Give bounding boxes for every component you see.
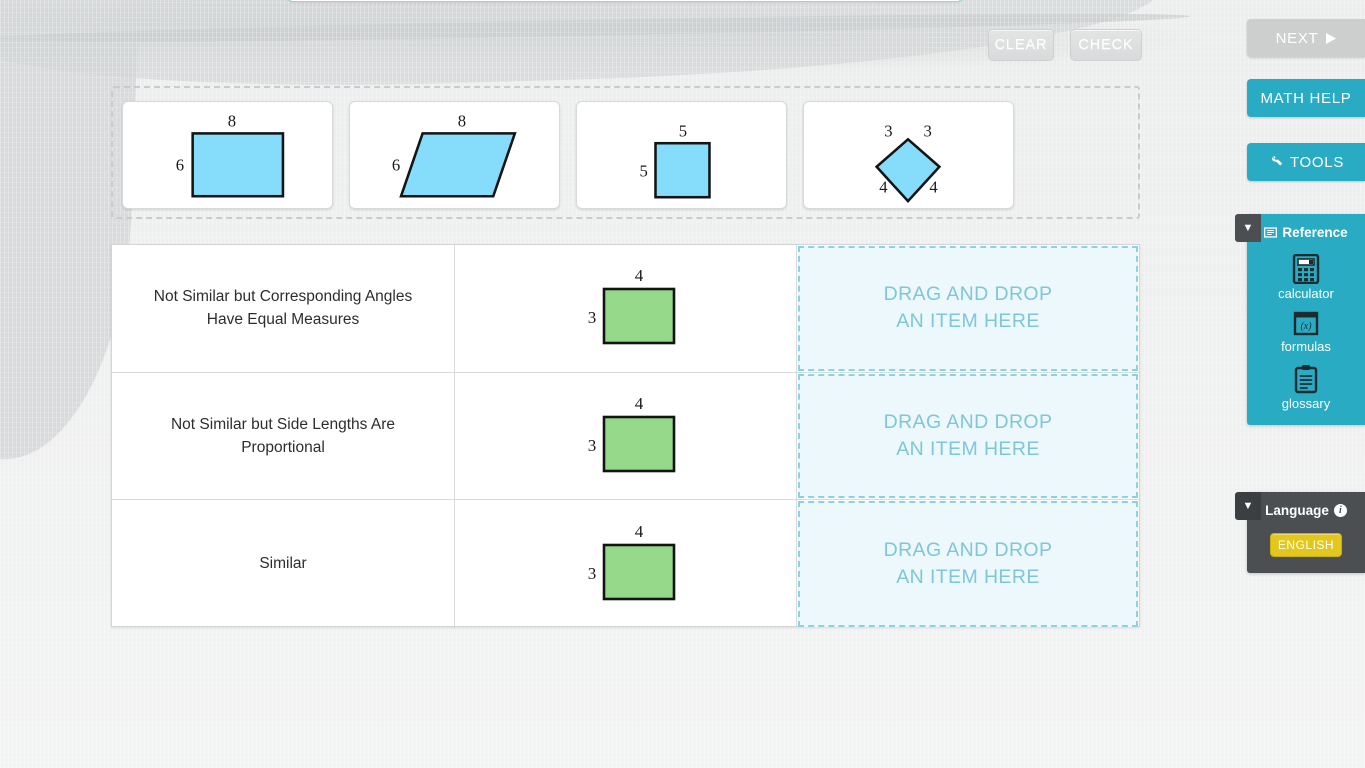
play-triangle-icon [1325, 33, 1336, 44]
shape-label-left: 3 [587, 308, 596, 327]
language-panel-header[interactable]: ▼ Language i [1247, 498, 1365, 522]
shape-label-left: 6 [176, 156, 184, 175]
check-button[interactable]: CHECK [1070, 29, 1142, 61]
reference-item-glossary[interactable]: glossary [1247, 364, 1365, 411]
row-reference-shape: 4 3 [455, 245, 797, 372]
right-rail: NEXT MATH HELP TOOLS ▼ Reference [1240, 0, 1365, 768]
table-row: Not Similar but Side Lengths Are Proport… [112, 373, 1139, 501]
table-row: Similar 4 3 DRAG AND DROP AN ITEM HERE [112, 500, 1139, 628]
square-figure: 5 5 [577, 102, 786, 208]
clipped-question-panel [287, 0, 963, 2]
reference-item-calculator[interactable]: calculator [1247, 254, 1365, 301]
math-help-button[interactable]: MATH HELP [1247, 79, 1365, 117]
shape-label-left: 5 [640, 162, 648, 181]
next-button[interactable]: NEXT [1247, 19, 1365, 57]
shape-label-top: 4 [634, 394, 643, 413]
reference-item-label: formulas [1281, 339, 1331, 354]
shape-label-top: 4 [634, 522, 643, 541]
language-panel: ▼ Language i ENGLISH [1247, 492, 1365, 573]
match-table: Not Similar but Corresponding Angles Hav… [111, 244, 1140, 627]
drop-zone-row-2[interactable]: DRAG AND DROP AN ITEM HERE [798, 374, 1138, 499]
drop-placeholder-line2: AN ITEM HERE [896, 310, 1039, 332]
clear-button[interactable]: CLEAR [988, 29, 1054, 61]
reference-item-label: glossary [1282, 396, 1330, 411]
triangle-down-icon[interactable]: ▼ [1235, 214, 1261, 242]
row-reference-shape: 4 3 [455, 373, 797, 500]
draggable-shape-rectangle-8-6[interactable]: 8 6 [122, 101, 333, 209]
shape-label-left: 6 [392, 156, 400, 175]
kite-figure: 3 3 4 4 [804, 102, 1013, 208]
tools-label: TOOLS [1290, 154, 1344, 171]
wrench-icon [1268, 155, 1283, 170]
row-category-label: Not Similar but Side Lengths Are Proport… [112, 373, 455, 500]
shape-bank: 8 6 8 6 5 5 3 3 4 [111, 86, 1140, 219]
shape-label-top: 4 [634, 266, 643, 285]
rectangle-figure: 8 6 [123, 102, 332, 208]
drop-placeholder-line1: DRAG AND DROP [884, 283, 1053, 305]
svg-text:(x): (x) [1300, 321, 1312, 332]
shape-label-left: 3 [587, 564, 596, 583]
shape-label-top-left: 3 [884, 121, 892, 140]
drop-zone-row-3[interactable]: DRAG AND DROP AN ITEM HERE [798, 501, 1138, 627]
reference-item-formulas[interactable]: (x) formulas [1247, 311, 1365, 354]
shape-label-top: 8 [458, 112, 466, 131]
tools-button[interactable]: TOOLS [1247, 143, 1365, 181]
rectangle-figure: 4 3 [546, 253, 706, 363]
row-category-label: Similar [112, 500, 455, 628]
language-english-button[interactable]: ENGLISH [1270, 533, 1342, 557]
question-stage: CLEAR CHECK 8 6 8 6 5 5 [0, 0, 1365, 768]
draggable-shape-square-5-5[interactable]: 5 5 [576, 101, 787, 209]
drop-placeholder-line1: DRAG AND DROP [884, 539, 1053, 561]
draggable-shape-parallelogram-8-6[interactable]: 8 6 [349, 101, 560, 209]
shape-label-top: 8 [228, 112, 236, 131]
row-category-label: Not Similar but Corresponding Angles Hav… [112, 245, 455, 372]
shape-label-bottom-left: 4 [879, 177, 888, 196]
formulas-icon: (x) [1292, 311, 1320, 337]
reference-item-label: calculator [1278, 286, 1334, 301]
next-button-label: NEXT [1276, 30, 1319, 47]
language-panel-title: Language [1265, 503, 1329, 518]
book-icon [1264, 227, 1277, 238]
calculator-icon [1292, 254, 1320, 284]
shape-label-left: 3 [587, 436, 596, 455]
math-help-label: MATH HELP [1260, 90, 1351, 107]
info-icon[interactable]: i [1334, 504, 1347, 517]
parallelogram-figure: 8 6 [350, 102, 559, 208]
shape-label-bottom-right: 4 [929, 177, 938, 196]
reference-panel-header[interactable]: ▼ Reference [1247, 220, 1365, 244]
reference-panel-title: Reference [1282, 225, 1347, 240]
clipboard-icon [1294, 364, 1318, 394]
drop-placeholder-line1: DRAG AND DROP [884, 411, 1053, 433]
drop-placeholder-line2: AN ITEM HERE [896, 566, 1039, 588]
shape-label-top: 5 [679, 121, 687, 140]
rectangle-figure: 4 3 [546, 381, 706, 491]
draggable-shape-kite-3-3-4-4[interactable]: 3 3 4 4 [803, 101, 1014, 209]
rectangle-figure: 4 3 [546, 509, 706, 619]
drop-placeholder-line2: AN ITEM HERE [896, 438, 1039, 460]
reference-panel: ▼ Reference calculator [1247, 214, 1365, 425]
triangle-down-icon[interactable]: ▼ [1235, 492, 1261, 520]
shape-label-top-right: 3 [923, 121, 931, 140]
table-row: Not Similar but Corresponding Angles Hav… [112, 245, 1139, 373]
drop-zone-row-1[interactable]: DRAG AND DROP AN ITEM HERE [798, 246, 1138, 371]
row-reference-shape: 4 3 [455, 500, 797, 628]
